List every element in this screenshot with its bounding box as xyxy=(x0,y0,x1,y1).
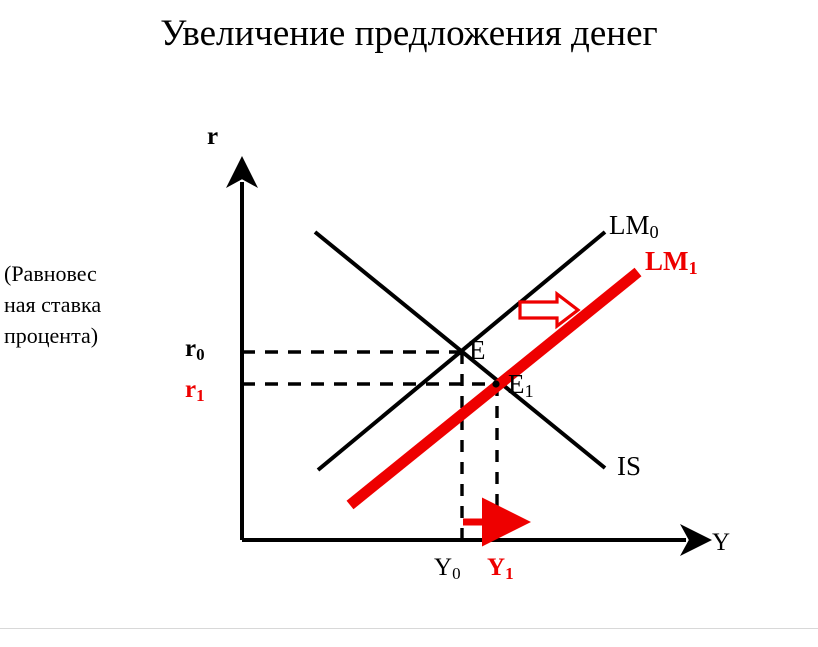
output-label-y1: Y1 xyxy=(487,555,514,580)
curve-label-lm0: LM0 xyxy=(609,212,659,239)
curve-lm1 xyxy=(350,272,638,505)
curve-label-lm1: LM1 xyxy=(645,248,698,275)
equilibrium-point-e1 xyxy=(492,380,499,387)
slide-footer-divider xyxy=(0,628,818,629)
point-label-e: E xyxy=(469,337,486,364)
axis-label-r: r xyxy=(207,124,218,149)
is-lm-diagram xyxy=(0,0,818,647)
point-label-e1: E1 xyxy=(508,371,534,398)
output-label-y0: Y0 xyxy=(434,555,461,580)
axis-label-y: Y xyxy=(712,530,730,555)
slide-canvas: Увеличение предложения денег (Равновес н… xyxy=(0,0,818,647)
equilibrium-point-e xyxy=(458,349,464,355)
rate-label-r0: r0 xyxy=(185,336,205,361)
curve-label-is: IS xyxy=(617,453,641,480)
rate-label-r1: r1 xyxy=(185,377,205,402)
